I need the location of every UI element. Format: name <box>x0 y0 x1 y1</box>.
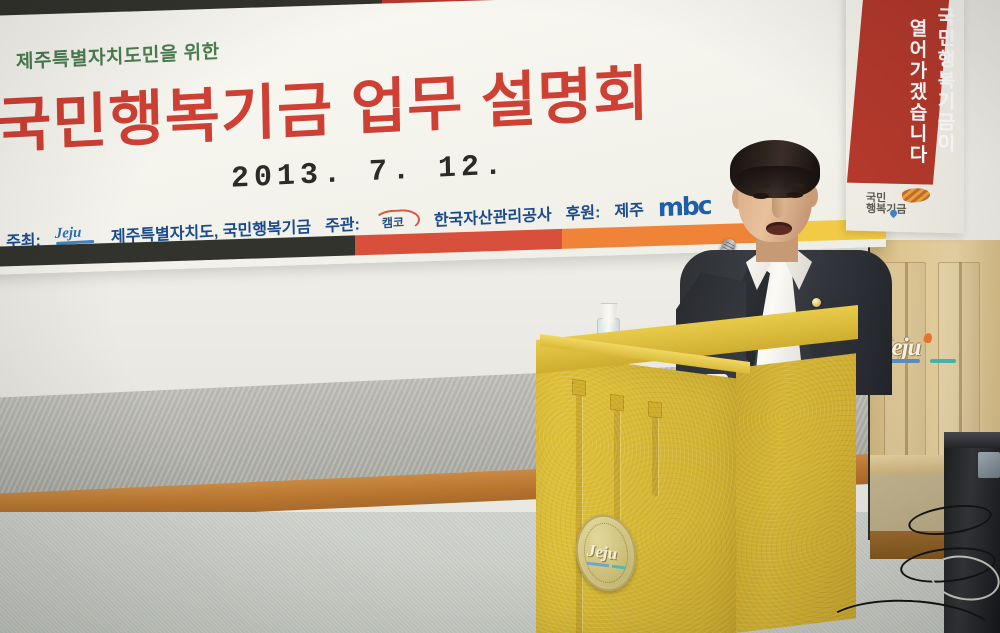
organizer-text: 한국자산관리공사 <box>434 201 552 231</box>
podium-front-panel <box>536 352 736 633</box>
hair <box>730 140 820 198</box>
banner-event-date: 2013. 7. 12. <box>231 149 508 196</box>
jeju-logo-accent-icon <box>923 332 934 344</box>
photo-scene: Jeju 제주특별자치도민을 위한 국민행복기금 업무 설명회 2013. 7.… <box>0 0 1000 633</box>
eye-left <box>753 193 769 199</box>
eye-right <box>787 192 803 198</box>
banner-top-stripe <box>0 0 886 16</box>
sponsor-label: 후원: <box>565 198 600 224</box>
mouth-open-speaking <box>766 222 792 235</box>
nose <box>772 198 784 218</box>
jeju-logo-bar-teal <box>930 359 956 363</box>
organizer-label: 주관: <box>325 211 360 237</box>
sponsor-prefix: 제주 <box>614 196 644 221</box>
podium-side-panel <box>736 353 856 633</box>
kamco-logo-icon: 캠코 <box>374 208 420 232</box>
vertical-banner-line1: 국민행복기금이 <box>935 7 954 154</box>
emblem-jeju-text: Jeju <box>587 541 617 565</box>
lapel-pin-icon <box>812 298 821 307</box>
